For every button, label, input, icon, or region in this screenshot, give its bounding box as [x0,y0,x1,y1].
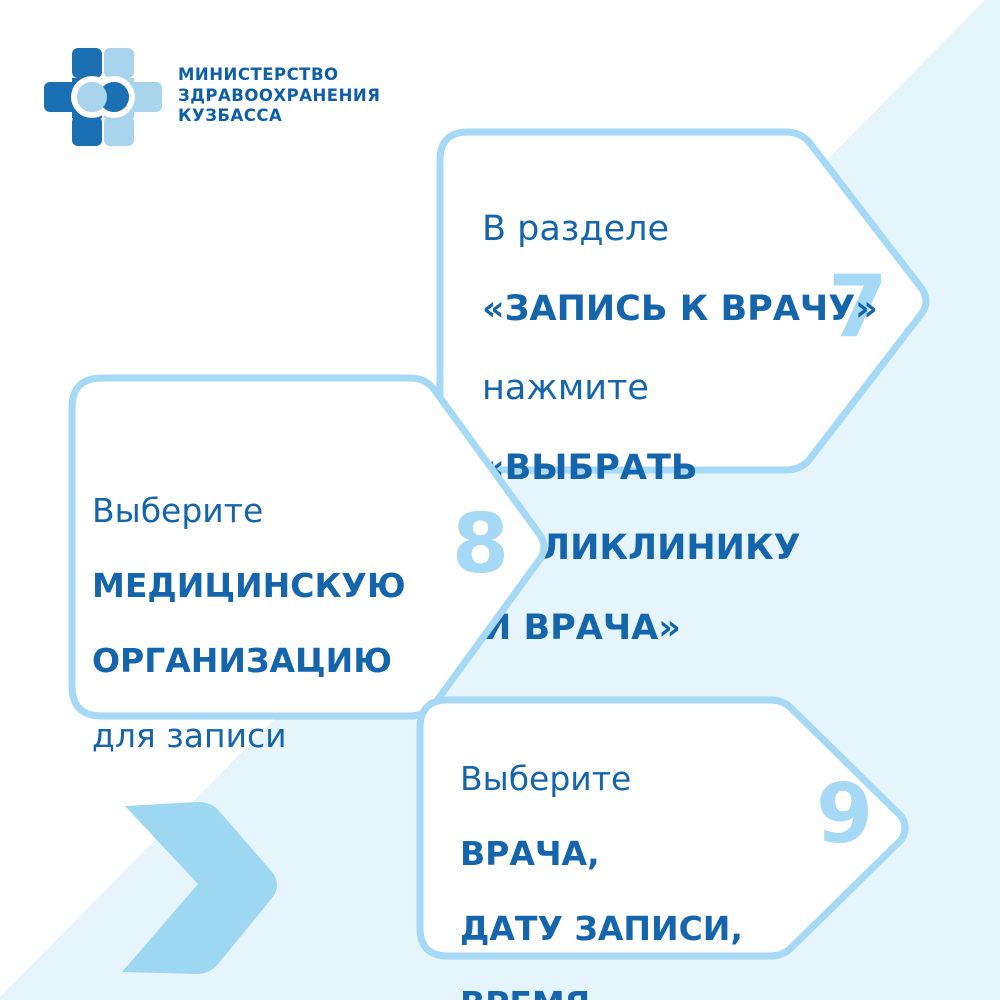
infographic-canvas: МИНИСТЕРСТВО ЗДРАВООХРАНЕНИЯ КУЗБАССА 7 … [0,0,1000,1000]
step-card-9-text: Выберите ВРАЧА, ДАТУ ЗАПИСИ, ВРЕМЯ [460,722,743,1000]
ministry-logo: МИНИСТЕРСТВО ЗДРАВООХРАНЕНИЯ КУЗБАССА [42,44,380,148]
step-card-9[interactable]: 9 Выберите ВРАЧА, ДАТУ ЗАПИСИ, ВРЕМЯ [414,694,914,962]
step-card-9-line-2: ВРАЧА, [460,835,743,873]
step-card-8-line-2: МЕДИЦИНСКУЮ [92,567,406,605]
step-card-8[interactable]: 8 Выберите МЕДИЦИНСКУЮ ОРГАНИЗАЦИЮ для з… [66,372,556,722]
step-card-9-line-3: ДАТУ ЗАПИСИ, [460,910,743,948]
step-card-9-line-4: ВРЕМЯ [460,985,743,1000]
step-card-8-line-3: ОРГАНИЗАЦИЮ [92,642,406,680]
chevron-right-icon [120,790,380,990]
step-card-8-text: Выберите МЕДИЦИНСКУЮ ОРГАНИЗАЦИЮ для зап… [92,454,406,792]
ministry-logo-title: МИНИСТЕРСТВО ЗДРАВООХРАНЕНИЯ КУЗБАССА [178,65,380,128]
step-card-9-number: 9 [816,774,873,856]
step-card-8-line-1: Выберите [92,492,406,530]
step-card-7-line-2: «ЗАПИСЬ К ВРАЧУ» [482,290,878,330]
step-card-9-line-1: Выберите [460,760,743,798]
ministry-of-health-cross-logo-icon [42,44,164,148]
chevron-shape [122,802,277,974]
step-card-8-number: 8 [452,504,509,586]
step-card-7-line-1: В разделе [482,210,878,250]
step-card-8-line-4: для записи [92,717,406,755]
